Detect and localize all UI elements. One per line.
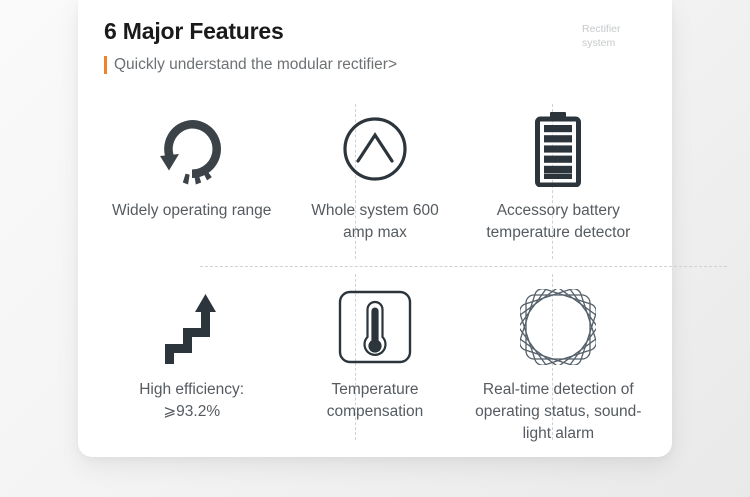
feature-item-high-efficiency: High efficiency: ⩾93.2% bbox=[100, 273, 283, 446]
features-grid: Widely operating range Whole system 600 … bbox=[100, 100, 650, 445]
accent-bar bbox=[104, 56, 107, 74]
feature-item-realtime-detection-alarm: Real-time detection of operating status,… bbox=[467, 273, 650, 446]
corner-watermark-label: Rectifier system bbox=[582, 22, 644, 50]
feature-item-temperature-compensation: Temperature compensation bbox=[283, 273, 466, 446]
feature-item-whole-system-amp-max: Whole system 600 amp max bbox=[283, 100, 466, 273]
feature-label: Whole system 600 amp max bbox=[291, 200, 460, 244]
stairs-up-arrow-icon bbox=[159, 287, 225, 367]
feature-label: Temperature compensation bbox=[291, 379, 460, 423]
feature-label: High efficiency: ⩾93.2% bbox=[107, 379, 276, 423]
feature-label: Widely operating range bbox=[107, 200, 276, 222]
circular-arrow-icon bbox=[155, 106, 229, 192]
circle-chevron-up-icon bbox=[341, 106, 409, 192]
battery-full-icon bbox=[534, 106, 582, 192]
page-subtitle: Quickly understand the modular rectifier… bbox=[114, 55, 397, 74]
rotating-squares-alarm-icon bbox=[520, 287, 596, 367]
feature-item-battery-temperature-detector: Accessory battery temperature detector bbox=[467, 100, 650, 273]
feature-item-widely-operating-range: Widely operating range bbox=[100, 100, 283, 273]
feature-card: 6 Major Features Quickly understand the … bbox=[78, 0, 672, 457]
thermometer-icon bbox=[338, 287, 412, 367]
page-title: 6 Major Features bbox=[104, 16, 658, 46]
card-header: 6 Major Features Quickly understand the … bbox=[104, 16, 658, 74]
feature-label: Accessory battery temperature detector bbox=[474, 200, 643, 244]
subtitle-row: Quickly understand the modular rectifier… bbox=[104, 55, 658, 74]
feature-label: Real-time detection of operating status,… bbox=[474, 379, 643, 445]
page-root: 6 Major Features Quickly understand the … bbox=[0, 0, 750, 497]
